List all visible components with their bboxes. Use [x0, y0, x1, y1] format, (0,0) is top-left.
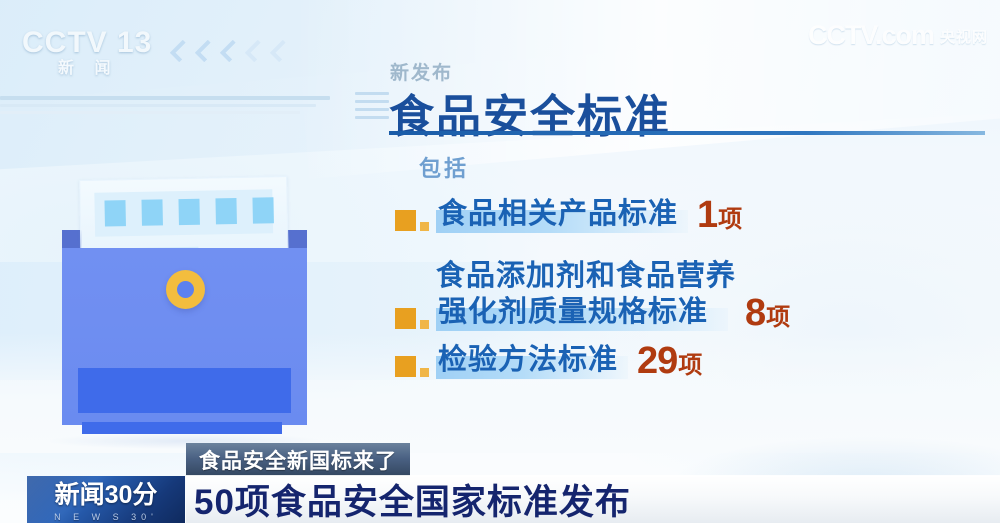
chevron-left-icon [245, 36, 267, 66]
list-item-label: 食品相关产品标准 [438, 198, 678, 230]
list-item-label-wrap: 检验方法标准 [436, 342, 628, 381]
list-item-body: 检验方法标准 [436, 342, 628, 381]
chevron-left-icon [220, 36, 242, 66]
page-title: 食品安全标准 [389, 80, 671, 145]
count-number: 8 [745, 294, 765, 332]
cctv13-logo-main: CCTV 13 [22, 28, 152, 58]
chevron-left-icon [170, 36, 192, 66]
list-item-label-line2: 强化剂质量规格标准 [438, 296, 708, 328]
count-unit: 项 [718, 199, 742, 234]
lower-third: 食品安全新国标来了 50项食品安全国家标准发布 新闻30分 N E W S 30… [0, 438, 1000, 523]
decor-chevrons [170, 36, 292, 66]
list-item: 食品添加剂和食品营养 强化剂质量规格标准 8 项 [395, 252, 790, 333]
list-item-label-wrap: 强化剂质量规格标准 [436, 294, 728, 333]
envelope-clasp-icon [166, 270, 205, 309]
program-logo-latin: N E W S 30' [54, 512, 158, 522]
program-logo-chinese: 新闻30分 [55, 476, 158, 511]
list-item-count: 29 项 [637, 342, 702, 380]
square-bullet-icon [395, 308, 429, 329]
list-item-label-line1: 食品添加剂和食品营养 [436, 252, 736, 294]
envelope-band-small [82, 422, 282, 434]
decor-stripes-title [355, 92, 389, 119]
cctv-com-chinese: 央视网 [940, 26, 988, 47]
list-item-count: 8 项 [745, 294, 790, 332]
document-cells [104, 197, 273, 226]
decor-stripes-topleft [0, 96, 330, 114]
envelope-illustration [62, 230, 307, 425]
count-number: 29 [637, 342, 677, 380]
headline-text: 50项食品安全国家标准发布 [194, 474, 631, 523]
title-underline [389, 131, 985, 135]
count-unit: 项 [678, 345, 702, 380]
includes-label: 包括 [419, 151, 469, 183]
list-item-body: 食品相关产品标准 [436, 196, 688, 235]
headline-banner: 50项食品安全国家标准发布 [186, 476, 1000, 523]
broadcast-graphic: CCTV 13 新 闻 CCTV.com 央视网 新发布 食品安全标准 包括 食… [0, 0, 1000, 523]
list-item: 食品相关产品标准 1 项 [395, 196, 742, 235]
cctv-com-latin: CCTV.com [808, 20, 934, 51]
count-number: 1 [697, 196, 717, 234]
list-item-label-wrap: 食品相关产品标准 [436, 196, 688, 235]
cctv-com-watermark: CCTV.com 央视网 [808, 20, 988, 51]
square-bullet-icon [395, 210, 429, 231]
lower-third-glow [670, 436, 1000, 476]
list-item-body: 食品添加剂和食品营养 强化剂质量规格标准 [436, 252, 736, 333]
count-unit: 项 [766, 297, 790, 332]
cctv13-logo-sub: 新 闻 [58, 58, 152, 80]
list-item-count: 1 项 [697, 196, 742, 234]
cctv13-logo: CCTV 13 新 闻 [22, 28, 152, 80]
topic-banner: 食品安全新国标来了 [186, 443, 410, 477]
chevron-left-icon [270, 36, 292, 66]
envelope-band-large [78, 368, 291, 413]
square-bullet-icon [395, 356, 429, 377]
list-item: 检验方法标准 29 项 [395, 342, 702, 381]
list-item-label-line2-wrap: 强化剂质量规格标准 [436, 294, 728, 333]
topic-text: 食品安全新国标来了 [199, 445, 397, 475]
program-logo: 新闻30分 N E W S 30' [27, 476, 185, 523]
list-item-label: 检验方法标准 [438, 344, 618, 376]
chevron-left-icon [195, 36, 217, 66]
